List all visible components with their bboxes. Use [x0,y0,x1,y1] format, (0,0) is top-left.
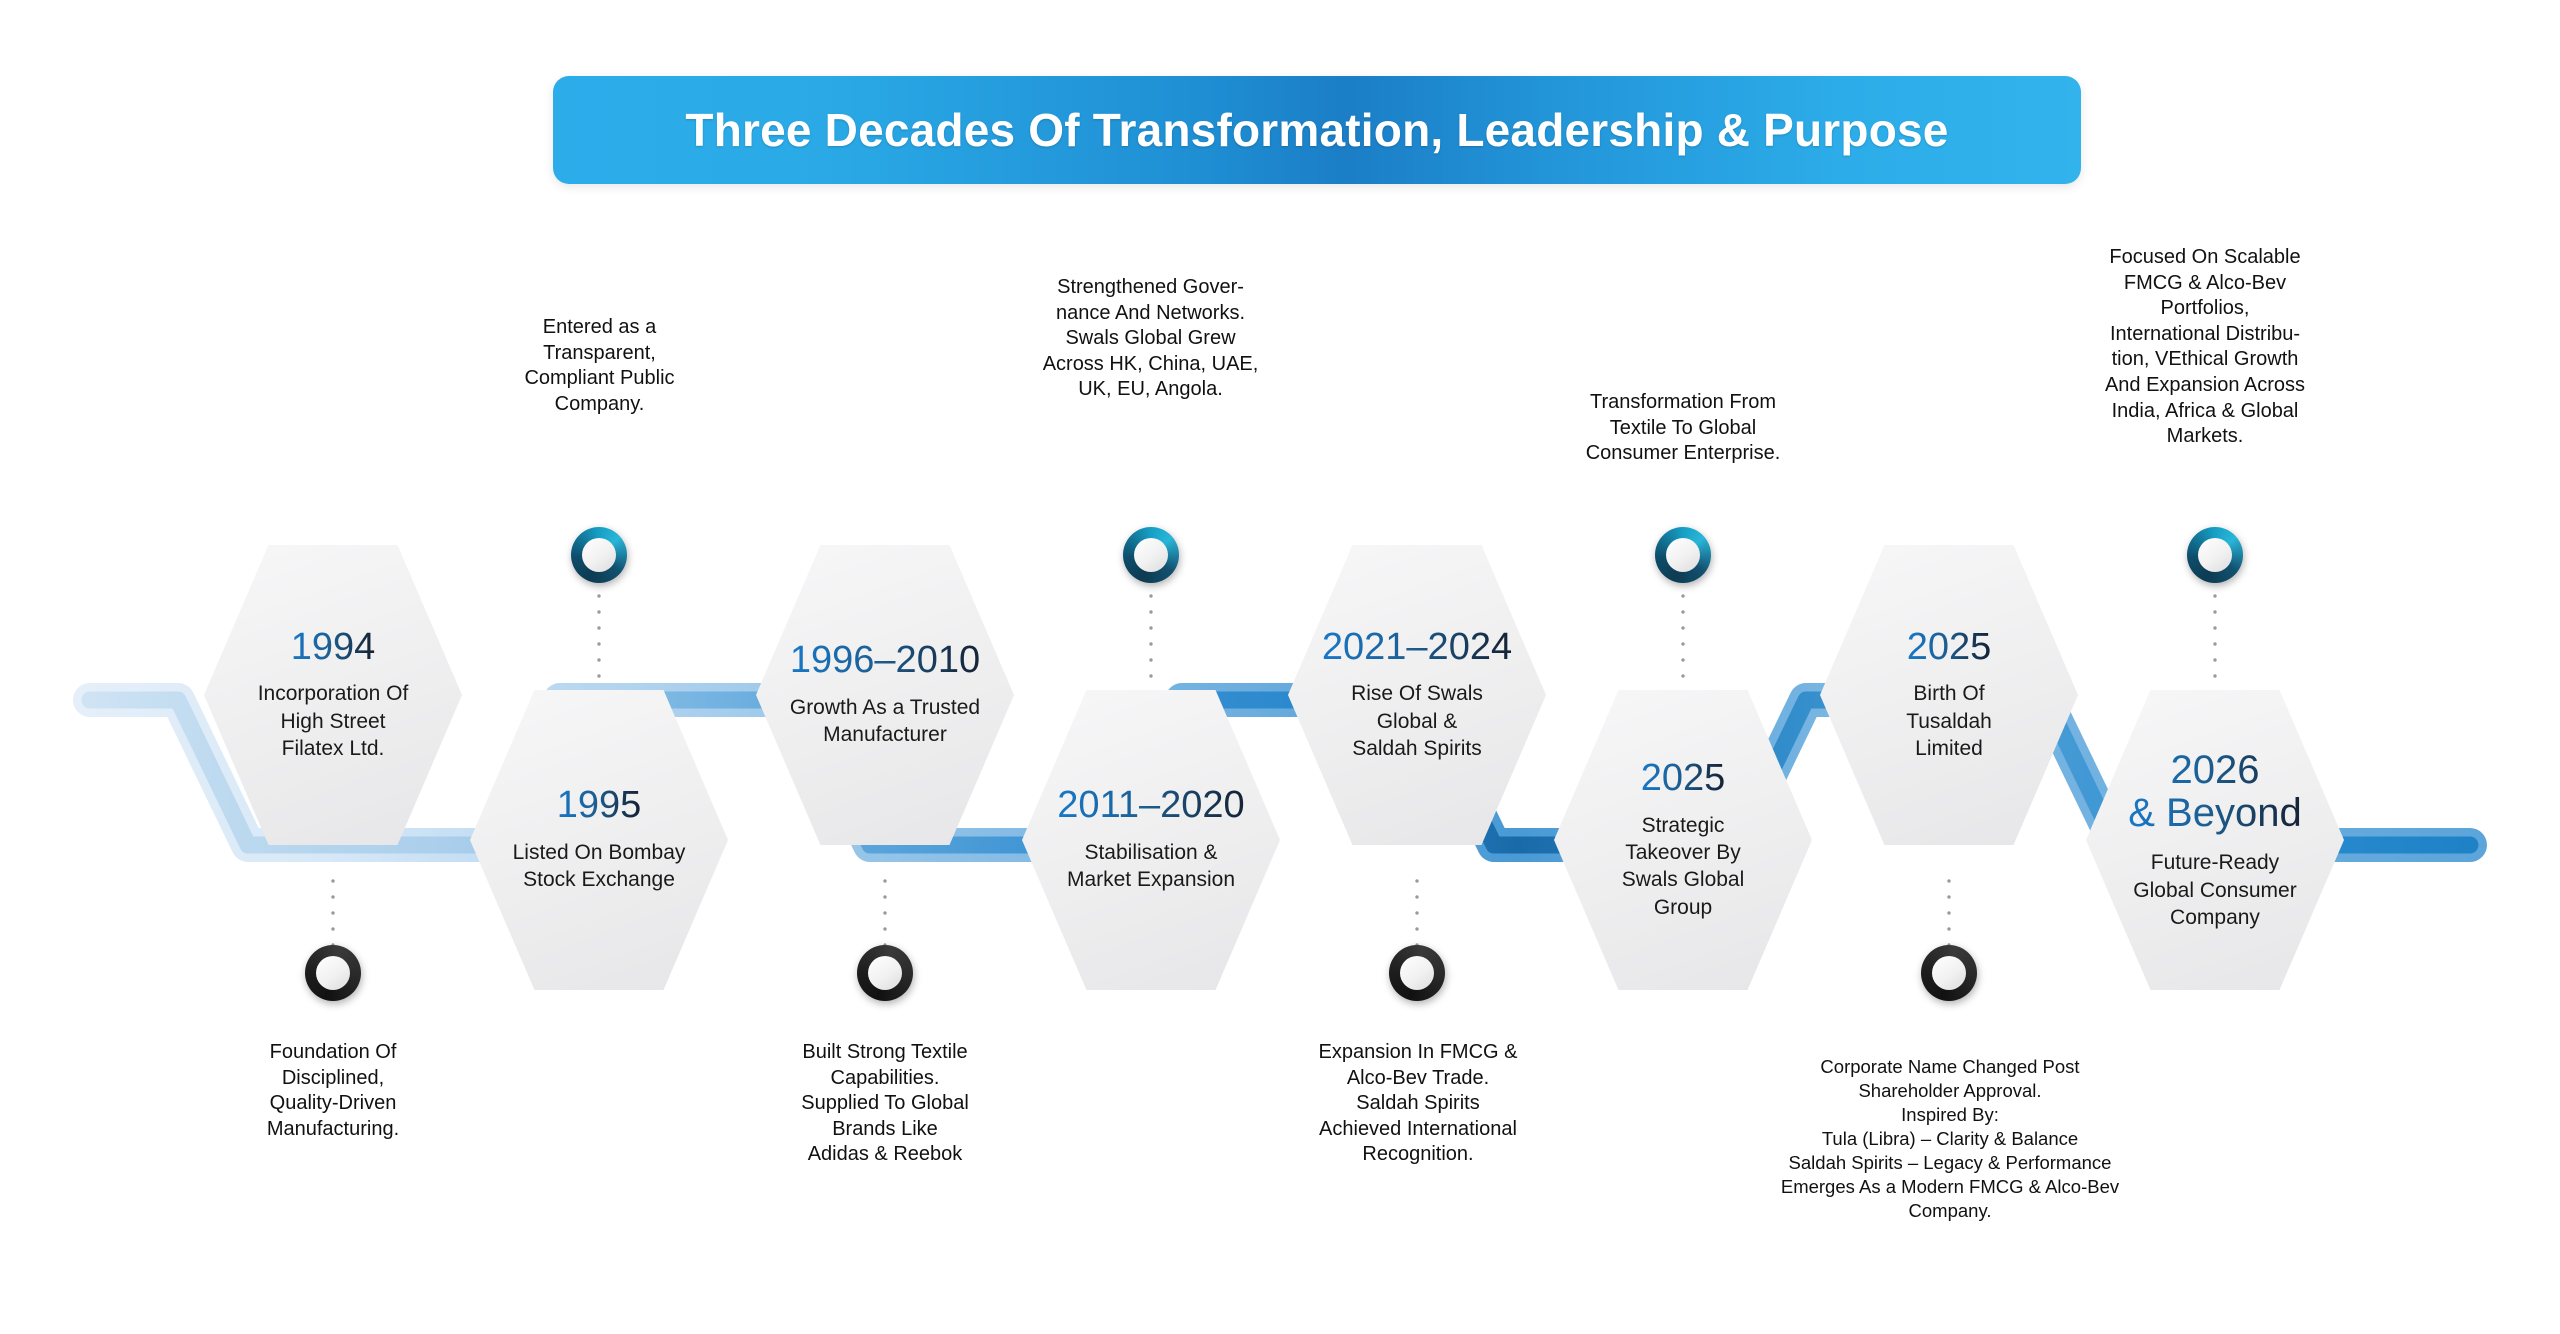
milestone-note-1994: Foundation OfDisciplined,Quality-DrivenM… [183,1040,483,1142]
milestone-desc: Listed On BombayStock Exchange [513,839,686,894]
milestone-marker-top[interactable] [2187,527,2243,583]
milestone-hex-1996-2010[interactable]: 1996–2010 Growth As a TrustedManufacture… [756,545,1014,845]
leader-line [2213,588,2217,684]
milestone-note-2025-tusaldah: Corporate Name Changed PostShareholder A… [1700,1055,2200,1223]
leader-line [597,588,601,684]
milestone-year: 2011–2020 [1057,786,1244,825]
milestone-year: 1994 [291,628,376,667]
milestone-note-1995: Entered as aTransparent,Compliant Public… [447,315,752,417]
milestone-hex-2021-2024[interactable]: 2021–2024 Rise Of SwalsGlobal &Saldah Sp… [1288,545,1546,845]
milestone-marker-bottom[interactable] [1921,945,1977,1001]
milestone-hex-2011-2020[interactable]: 2011–2020 Stabilisation &Market Expansio… [1022,690,1280,990]
milestone-marker-top[interactable] [571,527,627,583]
milestone-year: 2021–2024 [1322,628,1512,667]
milestone-note-2025-takeover: Transformation FromTextile To GlobalCons… [1528,390,1838,467]
milestone-marker-bottom[interactable] [857,945,913,1001]
milestone-note-2021-2024: Expansion In FMCG &Alco-Bev Trade.Saldah… [1258,1040,1578,1168]
infographic-canvas: Three Decades Of Transformation, Leaders… [0,0,2560,1334]
milestone-marker-bottom[interactable] [305,945,361,1001]
milestone-year: 1995 [557,786,642,825]
milestone-desc: Stabilisation &Market Expansion [1067,839,1235,894]
leader-line [883,873,887,955]
milestone-hex-2025-tusaldah[interactable]: 2025 Birth OfTusaldahLimited [1820,545,2078,845]
page-title-bar: Three Decades Of Transformation, Leaders… [553,76,2081,184]
milestone-desc: Future-ReadyGlobal ConsumerCompany [2133,849,2296,931]
milestone-desc: StrategicTakeover BySwals GlobalGroup [1622,812,1745,921]
milestone-year: 2025 [1641,759,1726,798]
milestone-desc: Incorporation OfHigh StreetFilatex Ltd. [258,680,409,762]
page-title: Three Decades Of Transformation, Leaders… [685,103,1948,157]
milestone-note-2026-beyond: Focused On ScalableFMCG & Alco-BevPortfo… [2055,245,2355,450]
leader-line [1149,588,1153,684]
milestone-note-1996-2010: Built Strong TextileCapabilities.Supplie… [735,1040,1035,1168]
milestone-marker-top[interactable] [1123,527,1179,583]
milestone-year: 1996–2010 [790,641,980,680]
milestone-desc: Growth As a TrustedManufacturer [790,694,980,749]
leader-line [1415,873,1419,955]
milestone-hex-2026-beyond[interactable]: 2026& Beyond Future-ReadyGlobal Consumer… [2086,690,2344,990]
milestone-hex-1994[interactable]: 1994 Incorporation OfHigh StreetFilatex … [204,545,462,845]
milestone-year: 2025 [1907,628,1992,667]
milestone-marker-bottom[interactable] [1389,945,1445,1001]
leader-line [331,873,335,955]
milestone-hex-2025-takeover[interactable]: 2025 StrategicTakeover BySwals GlobalGro… [1554,690,1812,990]
leader-line [1681,588,1685,684]
milestone-desc: Birth OfTusaldahLimited [1906,680,1992,762]
milestone-year: 2026& Beyond [2128,749,2301,835]
milestone-hex-1995[interactable]: 1995 Listed On BombayStock Exchange [470,690,728,990]
milestone-desc: Rise Of SwalsGlobal &Saldah Spirits [1351,680,1483,762]
milestone-marker-top[interactable] [1655,527,1711,583]
milestone-note-2011-2020: Strengthened Gover-nance And Networks.Sw… [988,275,1313,403]
leader-line [1947,873,1951,955]
